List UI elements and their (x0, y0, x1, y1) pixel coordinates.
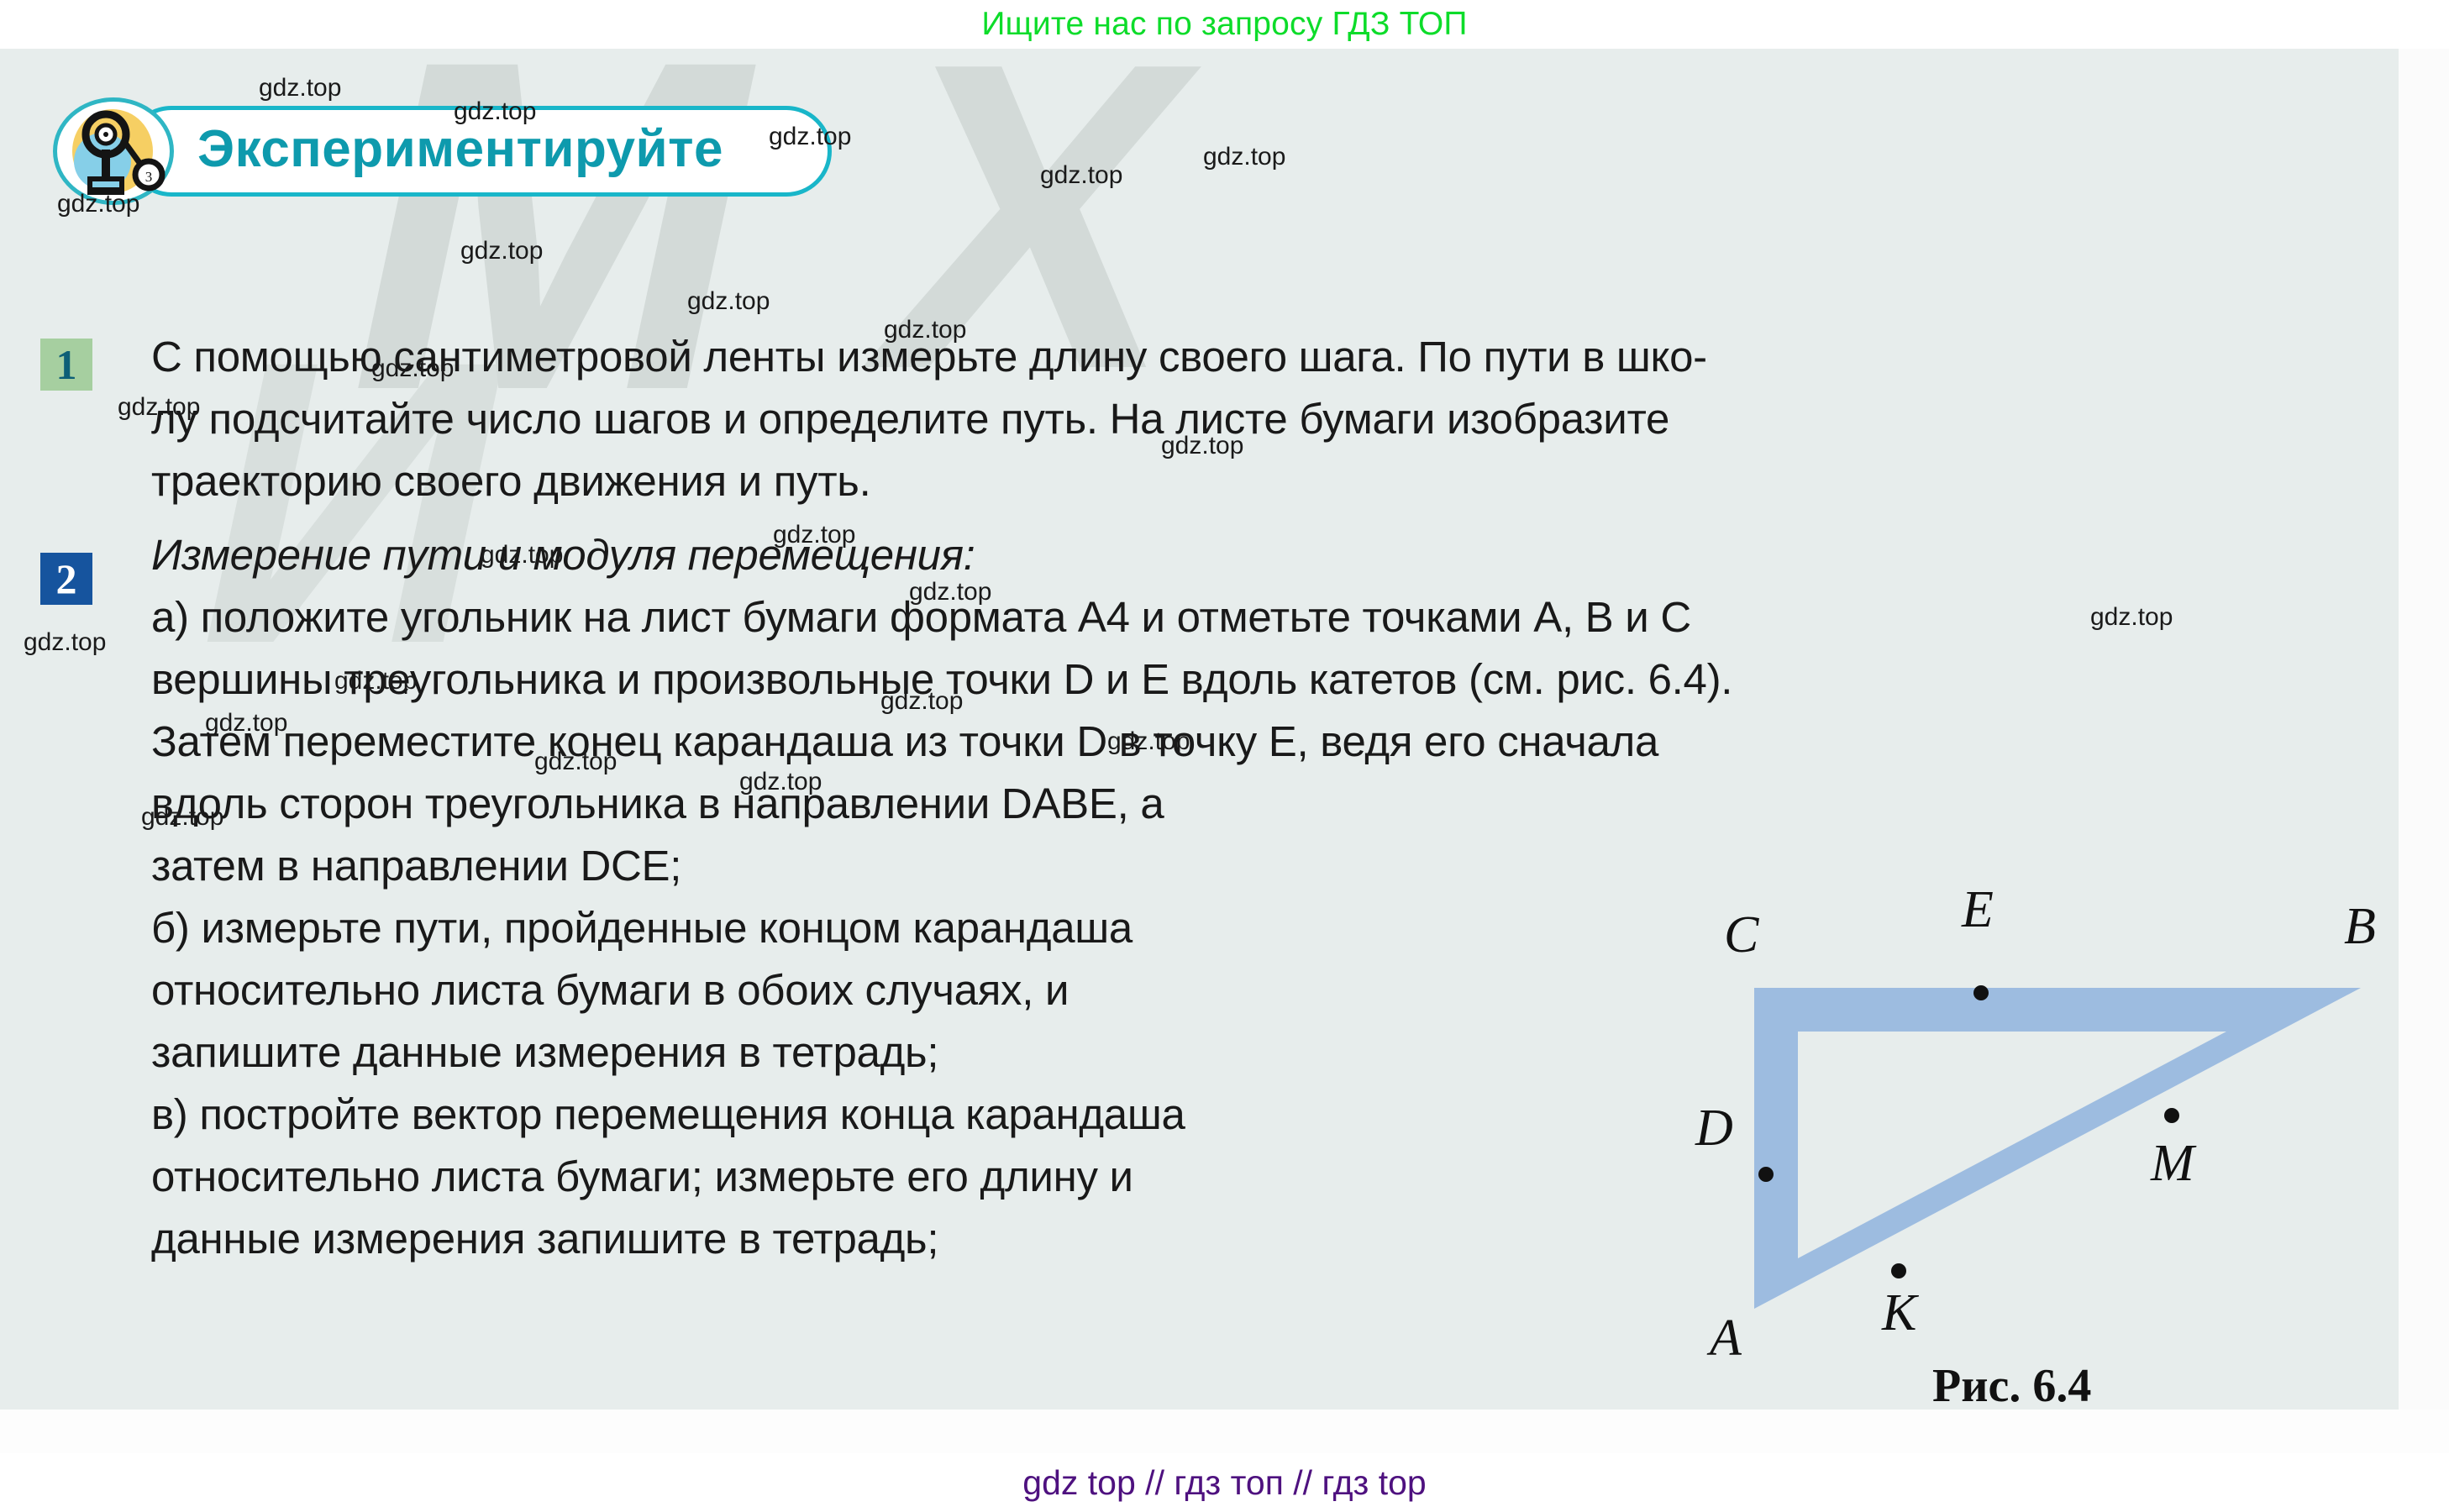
point-K (1891, 1263, 1906, 1278)
figure-label-M: M (2151, 1134, 2194, 1194)
gdz-watermark: gdz.top (1040, 161, 1122, 190)
figure-caption: Рис. 6.4 (1932, 1359, 2091, 1413)
gdz-watermark: gdz.top (259, 74, 341, 102)
figure-label-K: K (1882, 1284, 1916, 1343)
item2-line: Затем переместите конец карандаша из точ… (151, 711, 1647, 773)
exercise-body: С помощью сантиметровой ленты измерьте д… (151, 326, 1647, 1270)
item2-line: затем в направлении DCE; (151, 835, 1647, 897)
item-number-badge-2: 2 (40, 553, 92, 605)
item2-line: а) положите угольник на лист бумаги форм… (151, 586, 1647, 648)
gdz-watermark: gdz.top (460, 237, 543, 265)
item2-line: в) постройте вектор перемещения конца ка… (151, 1084, 1647, 1146)
svg-text:3: 3 (145, 169, 153, 185)
item2-line: запишите данные измерения в тетрадь; (151, 1021, 1647, 1084)
item2-line: вдоль сторон треугольника в направлении … (151, 773, 1647, 835)
textbook-page: М Х И Экспериментируйте 3 1 2 (0, 49, 2449, 1453)
item2-line: данные измерения запишите в тетрадь; (151, 1208, 1647, 1270)
point-M (2164, 1108, 2179, 1123)
figure-label-B: B (2344, 897, 2376, 957)
gdz-watermark: gdz.top (1203, 143, 1285, 171)
item1-line: траекторию своего движения и путь. (151, 450, 1647, 512)
footer-banner: gdz top // гдз топ // гдз top (0, 1453, 2449, 1512)
item2-line: б) измерьте пути, пройденные концом кара… (151, 897, 1647, 959)
figure-label-A: A (1710, 1309, 1742, 1368)
gdz-watermark: gdz.top (24, 628, 106, 657)
item2-line: вершины треугольника и произвольные точк… (151, 648, 1647, 711)
promo-banner: Ищите нас по запросу ГДЗ ТОП (0, 0, 2449, 49)
section-header-badge: Экспериментируйте 3 (50, 106, 832, 197)
figure-label-E: E (1962, 880, 1994, 940)
set-square-body (1754, 988, 2361, 1309)
figure-6-4: C E B D M K A Рис. 6.4 (1672, 889, 2411, 1443)
item-number-badge-1: 1 (40, 339, 92, 391)
item2-line: относительно листа бумаги в обоих случая… (151, 959, 1647, 1021)
point-E (1973, 985, 1989, 1000)
gdz-watermark: gdz.top (687, 287, 770, 316)
item2-heading: Измерение пути и модуля перемещения: (151, 524, 1647, 586)
promo-banner-text: Ищите нас по запросу ГДЗ ТОП (981, 6, 1467, 43)
item1-line: лу подсчитайте число шагов и определите … (151, 388, 1647, 450)
item2-line: относительно листа бумаги; измерьте его … (151, 1146, 1647, 1208)
gdz-watermark: gdz.top (2090, 603, 2173, 632)
figure-label-D: D (1695, 1099, 1733, 1158)
point-D (1758, 1167, 1774, 1182)
figure-label-C: C (1724, 906, 1758, 965)
item1-line: С помощью сантиметровой ленты измерьте д… (151, 326, 1647, 388)
section-header-title: Экспериментируйте (197, 119, 723, 179)
footer-banner-text: gdz top // гдз топ // гдз top (1022, 1463, 1426, 1503)
microscope-icon: 3 (50, 97, 176, 205)
